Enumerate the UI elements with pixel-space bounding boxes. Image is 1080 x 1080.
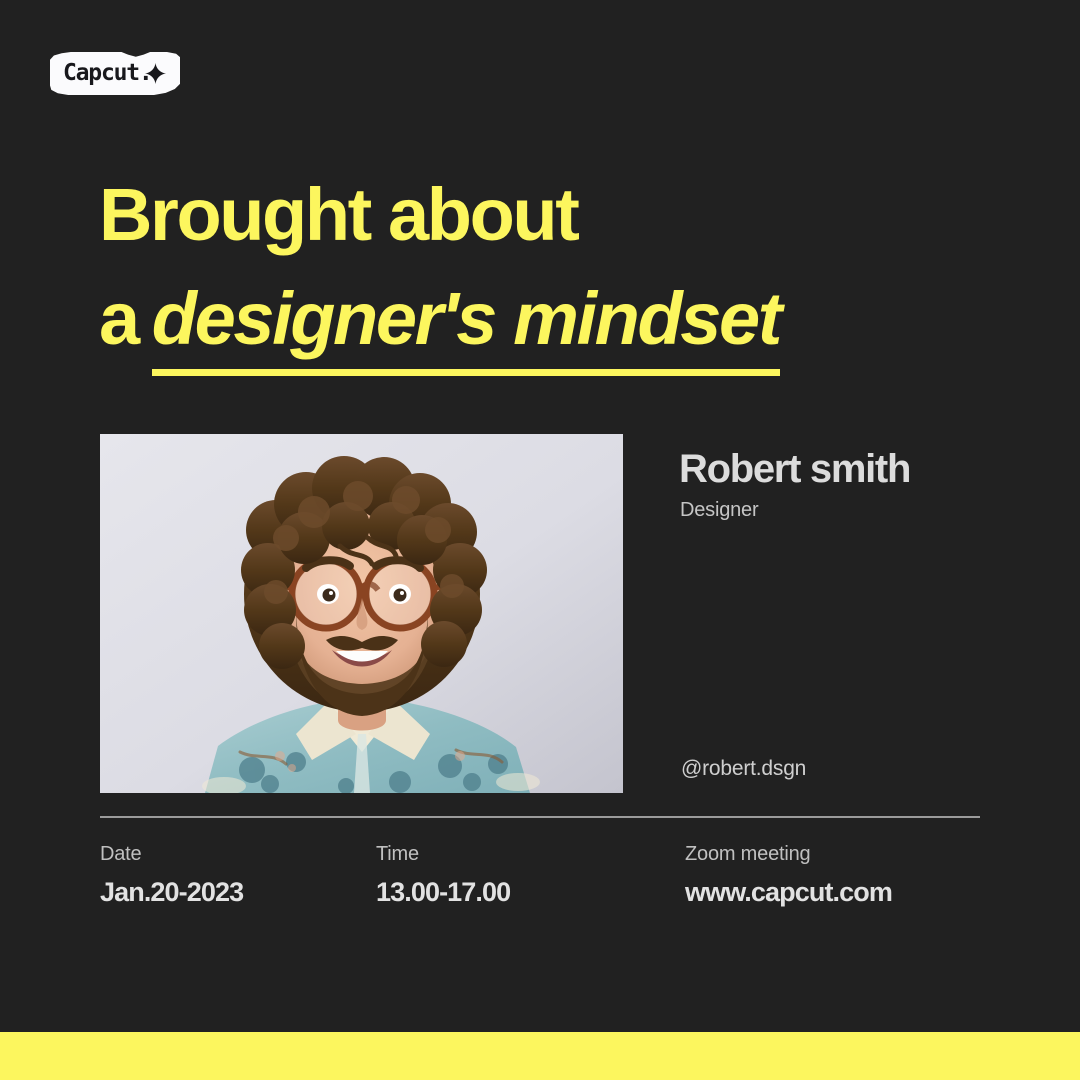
event-meta-row: Date Jan.20-2023 Time 13.00-17.00 Zoom m…	[100, 842, 990, 912]
headline-line-1: Brought about	[99, 172, 999, 258]
meta-label: Time	[376, 842, 510, 866]
section-divider	[100, 816, 980, 818]
four-point-star-icon	[145, 63, 166, 84]
logo-text: Capcut.	[63, 61, 152, 85]
headline-line-2: adesigner's mindset	[99, 276, 999, 383]
meta-column-time: Time 13.00-17.00	[376, 842, 510, 908]
speaker-photo	[100, 434, 623, 793]
speaker-portrait-illustration	[100, 434, 623, 793]
meta-label: Zoom meeting	[685, 842, 892, 866]
meta-value-link[interactable]: www.capcut.com	[685, 876, 892, 908]
meta-column-zoom-meeting: Zoom meeting www.capcut.com	[685, 842, 892, 908]
meta-value: Jan.20-2023	[100, 876, 243, 908]
meta-column-date: Date Jan.20-2023	[100, 842, 243, 908]
speaker-handle[interactable]: @robert.dsgn	[681, 757, 806, 781]
event-poster: Capcut. Brought about adesigner's mindse…	[0, 0, 1080, 1080]
headline-line-2-prefix: a	[99, 277, 138, 360]
speaker-role: Designer	[680, 499, 758, 522]
bottom-accent-bar	[0, 1032, 1080, 1080]
meta-label: Date	[100, 842, 243, 866]
headline-line-2-emphasis: designer's mindset	[152, 277, 780, 376]
meta-value: 13.00-17.00	[376, 876, 510, 908]
speaker-name: Robert smith	[679, 447, 910, 492]
headline: Brought about adesigner's mindset	[99, 172, 999, 383]
capcut-logo[interactable]: Capcut.	[50, 52, 180, 95]
